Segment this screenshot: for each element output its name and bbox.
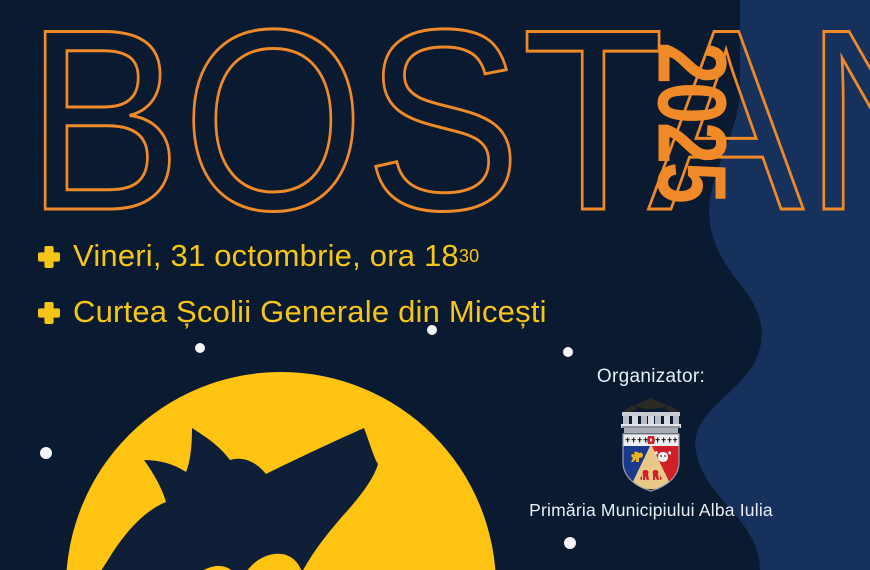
plus-icon xyxy=(38,246,60,268)
event-datetime-text: Vineri, 31 octombrie, ora 18 xyxy=(73,238,459,274)
year-badge: 2025 xyxy=(652,14,732,230)
event-datetime-line: Vineri, 31 octombrie, ora 1830 xyxy=(38,238,479,274)
page-title: BOSTANIADA xyxy=(26,4,589,236)
star-5 xyxy=(564,537,576,549)
alba-iulia-coat-of-arms-icon xyxy=(612,396,690,494)
organizer-label: Organizator: xyxy=(496,366,806,388)
event-location-text: Curtea Școlii Generale din Micești xyxy=(73,294,547,330)
organizer-block: Organizator: xyxy=(496,366,806,521)
bat-silhouette-icon xyxy=(78,422,398,570)
plus-icon xyxy=(38,302,60,324)
star-4 xyxy=(40,447,52,459)
year-label: 2025 xyxy=(636,42,748,202)
organizer-name: Primăria Municipiului Alba Iulia xyxy=(496,500,806,521)
star-1 xyxy=(195,343,205,353)
moon-group xyxy=(66,372,496,570)
event-location-line: Curtea Școlii Generale din Micești xyxy=(38,294,547,330)
poster-canvas: BOSTANIADA 2025 Vineri, 31 octombrie, or… xyxy=(0,0,870,570)
star-3 xyxy=(563,347,573,357)
